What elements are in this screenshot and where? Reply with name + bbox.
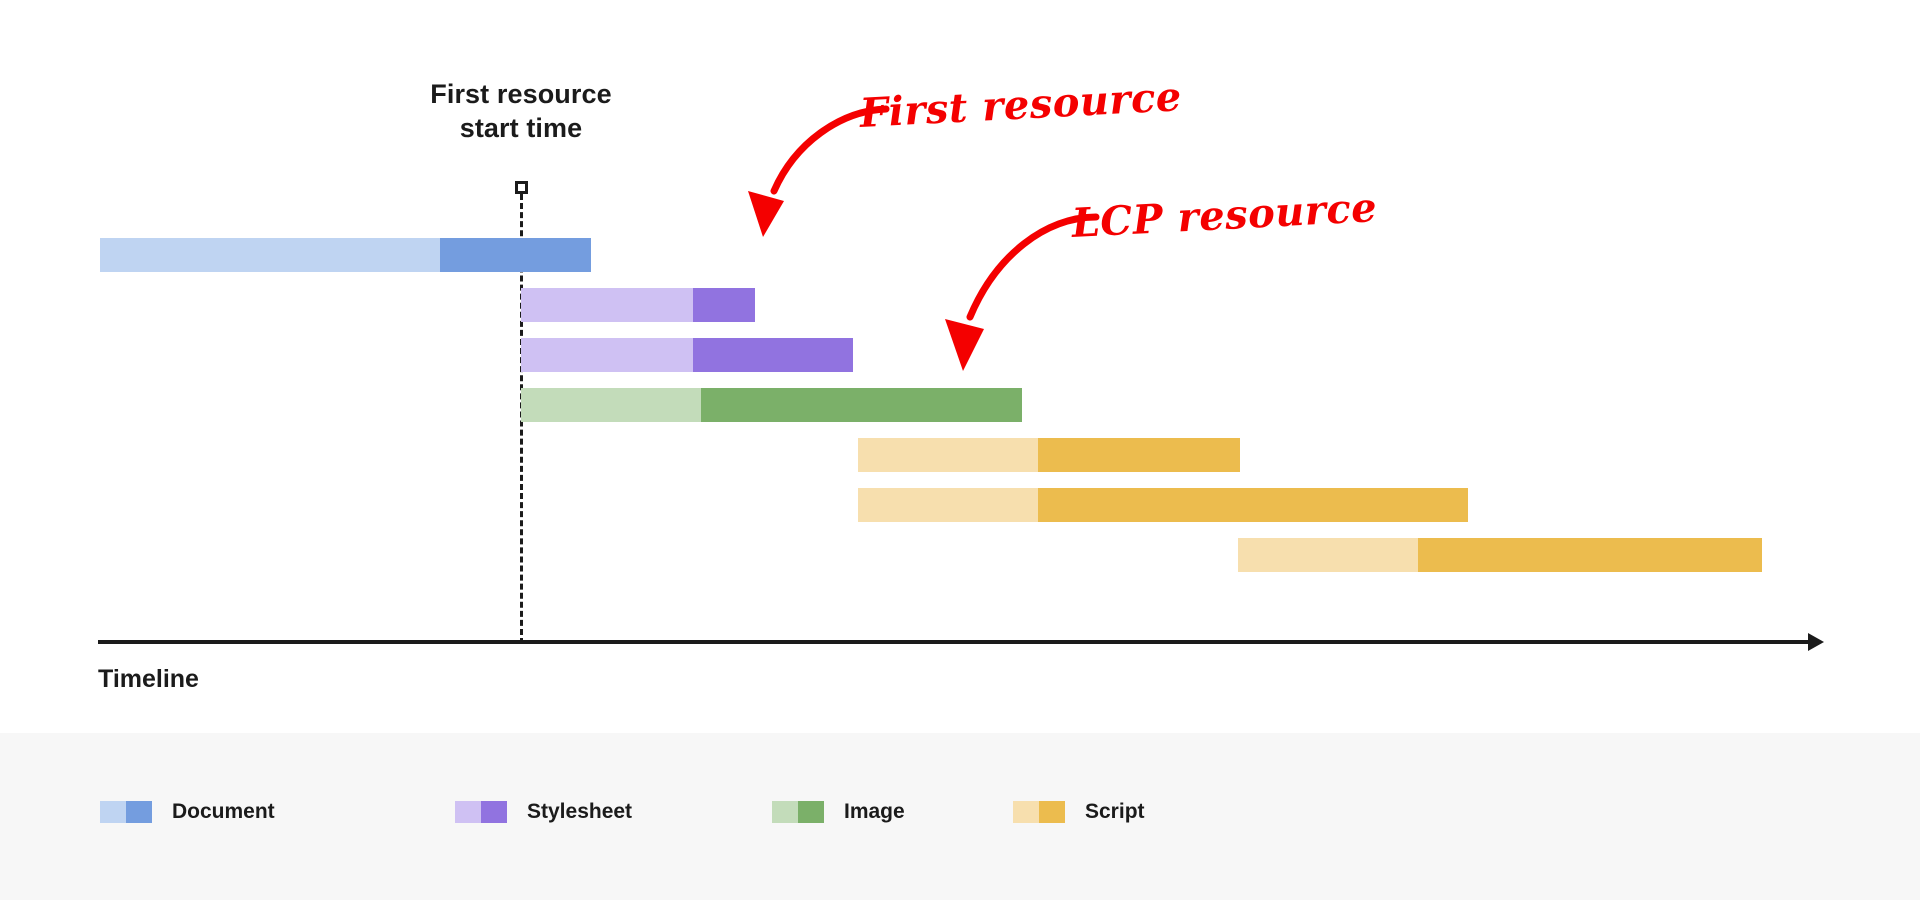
legend-label-script: Script [1085, 800, 1145, 824]
first-resource-start-marker [515, 181, 528, 194]
waterfall-chart: First resource start time [0, 0, 1920, 900]
bar-stylesheet-2 [521, 338, 853, 372]
bar-segment-wait [521, 288, 693, 322]
legend-item-stylesheet: Stylesheet [455, 797, 632, 827]
annotation-lcp-resource: LCP resource [1071, 184, 1379, 247]
bar-segment-wait [521, 338, 693, 372]
bar-segment-download [1038, 438, 1240, 472]
bar-stylesheet-1 [521, 288, 755, 322]
bar-segment-wait [858, 488, 1038, 522]
legend-items: Document Stylesheet Image [0, 733, 1920, 900]
bar-segment-wait [1238, 538, 1418, 572]
bar-segment-wait [858, 438, 1038, 472]
bar-segment-download [701, 388, 1022, 422]
legend-swatch-stylesheet [455, 801, 507, 823]
bar-image-1 [521, 388, 1022, 422]
legend-swatch-script [1013, 801, 1065, 823]
bar-script-2 [858, 488, 1468, 522]
first-resource-start-time-label: First resource start time [321, 78, 721, 146]
legend-item-script: Script [1013, 797, 1145, 827]
legend-label-stylesheet: Stylesheet [527, 800, 632, 824]
annotation-first-resource: First resource [859, 73, 1183, 137]
timeline-axis-arrowhead [1808, 633, 1824, 651]
legend-swatch-image [772, 801, 824, 823]
legend-item-image: Image [772, 797, 905, 827]
legend-label-document: Document [172, 800, 275, 824]
bar-script-3 [1238, 538, 1762, 572]
bar-script-1 [858, 438, 1240, 472]
bar-segment-wait [100, 238, 440, 272]
bar-segment-download [693, 288, 755, 322]
bar-segment-download [440, 238, 591, 272]
legend: Document Stylesheet Image [0, 733, 1920, 900]
bar-segment-download [1418, 538, 1762, 572]
legend-label-image: Image [844, 800, 905, 824]
bar-segment-download [1038, 488, 1468, 522]
bar-segment-download [693, 338, 853, 372]
bar-document-1 [100, 238, 591, 272]
legend-item-document: Document [100, 797, 275, 827]
legend-swatch-document [100, 801, 152, 823]
plot-area: First resource start time [0, 0, 1920, 733]
lcp-resource-arrow [900, 205, 1100, 385]
timeline-axis-label: Timeline [98, 665, 199, 694]
timeline-axis [98, 640, 1810, 644]
bar-segment-wait [521, 388, 701, 422]
